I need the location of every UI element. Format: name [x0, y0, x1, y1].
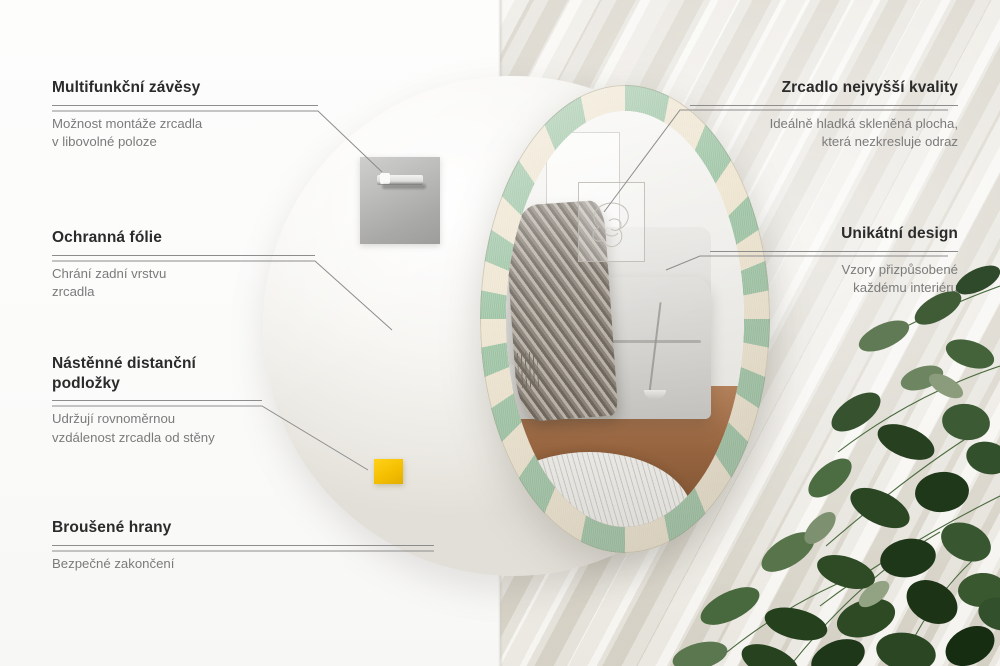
callout-rule: [52, 255, 315, 256]
callout-title: Multifunkční závěsy: [52, 78, 318, 98]
callout-title: Broušené hrany: [52, 518, 434, 538]
callout-brousene-hrany[interactable]: Broušené hrany Bezpečné zakončení: [52, 518, 434, 573]
reflection-art-frame: [578, 182, 645, 262]
distance-pad[interactable]: [374, 459, 403, 484]
hanger-bracket[interactable]: [360, 157, 440, 244]
hanger-bracket-shadow: [382, 184, 426, 189]
infographic-stage: Multifunkční závěsy Možnost montáže zrca…: [0, 0, 1000, 666]
callout-nastenne-distancni-podlozky[interactable]: Nástěnné distanční podložky Udržují rovn…: [52, 354, 262, 448]
callout-title: Unikátní design: [710, 224, 958, 244]
callout-ochranna-folie[interactable]: Ochranná fólie Chrání zadní vrstvu zrcad…: [52, 228, 315, 302]
callout-title: Zrcadlo nejvyšší kvality: [690, 78, 958, 98]
mirror-outer: [480, 85, 770, 553]
callout-rule: [52, 545, 434, 546]
callout-rule: [52, 400, 262, 401]
callout-desc: Ideálně hladká skleněná plocha, která ne…: [690, 115, 958, 152]
callout-rule: [52, 105, 318, 106]
callout-desc: Bezpečné zakončení: [52, 555, 434, 574]
callout-unikatni-design[interactable]: Unikátní design Vzory přizpůsobené každé…: [710, 224, 958, 298]
round-mirror[interactable]: [480, 85, 770, 553]
callout-rule: [710, 251, 958, 252]
callout-rule: [690, 105, 958, 106]
callout-desc: Vzory přizpůsobené každému interiéru: [710, 261, 958, 298]
mirror-glass-sheen: [506, 111, 744, 527]
callout-desc: Možnost montáže zrcadla v libovolné polo…: [52, 115, 318, 152]
callout-title: Nástěnné distanční podložky: [52, 354, 262, 393]
hanger-bracket-pin: [380, 173, 390, 184]
callout-multifunkcni-zavesy[interactable]: Multifunkční závěsy Možnost montáže zrca…: [52, 78, 318, 152]
mirror-glass[interactable]: [506, 111, 744, 527]
callout-zrcadlo-nejvyssi-kvality[interactable]: Zrcadlo nejvyšší kvality Ideálně hladká …: [690, 78, 958, 152]
callout-title: Ochranná fólie: [52, 228, 315, 248]
line-art-icon: [579, 183, 644, 261]
callout-desc: Chrání zadní vrstvu zrcadla: [52, 265, 315, 302]
callout-desc: Udržují rovnoměrnou vzdálenost zrcadla o…: [52, 410, 262, 447]
